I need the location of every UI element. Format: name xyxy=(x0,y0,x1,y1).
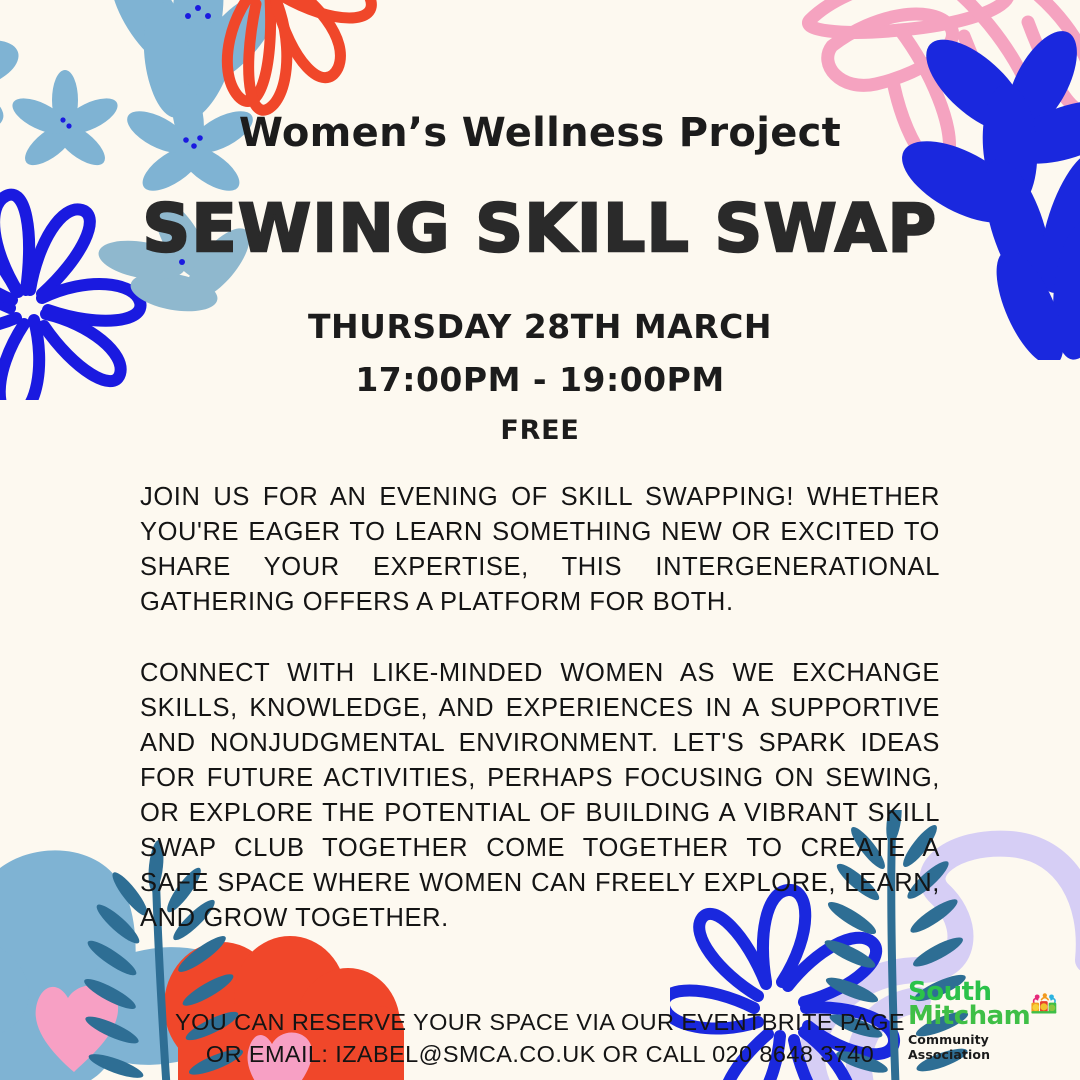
south-mitcham-logo: South Mitcham Comm xyxy=(908,981,1058,1062)
event-poster: Women’s Wellness Project SEWING SKILL SW… xyxy=(0,0,1080,1080)
poster-content: Women’s Wellness Project SEWING SKILL SW… xyxy=(0,0,1080,1080)
booking-line-2[interactable]: OR EMAIL: IZABEL@SMCA.CO.UK OR CALL 020 … xyxy=(130,1038,950,1070)
description-block: JOIN US FOR AN EVENING OF SKILL SWAPPING… xyxy=(140,480,940,936)
event-date: THURSDAY 28TH MARCH xyxy=(308,307,772,346)
logo-tagline: Community Association xyxy=(908,1032,1058,1062)
event-price: FREE xyxy=(500,415,579,446)
booking-info: YOU CAN RESERVE YOUR SPACE VIA OUR EVENT… xyxy=(130,1006,950,1070)
kicker-title: Women’s Wellness Project xyxy=(239,110,841,156)
booking-line-1: YOU CAN RESERVE YOUR SPACE VIA OUR EVENT… xyxy=(130,1006,950,1038)
page-title: SEWING SKILL SWAP xyxy=(142,190,937,267)
event-time: 17:00PM - 19:00PM xyxy=(355,360,724,399)
description-paragraph-2: CONNECT WITH LIKE-MINDED WOMEN AS WE EXC… xyxy=(140,656,940,936)
logo-people-icon xyxy=(1030,981,1058,1027)
logo-word-mitcham: Mitcham xyxy=(908,1005,1030,1029)
description-paragraph-1: JOIN US FOR AN EVENING OF SKILL SWAPPING… xyxy=(140,480,940,620)
